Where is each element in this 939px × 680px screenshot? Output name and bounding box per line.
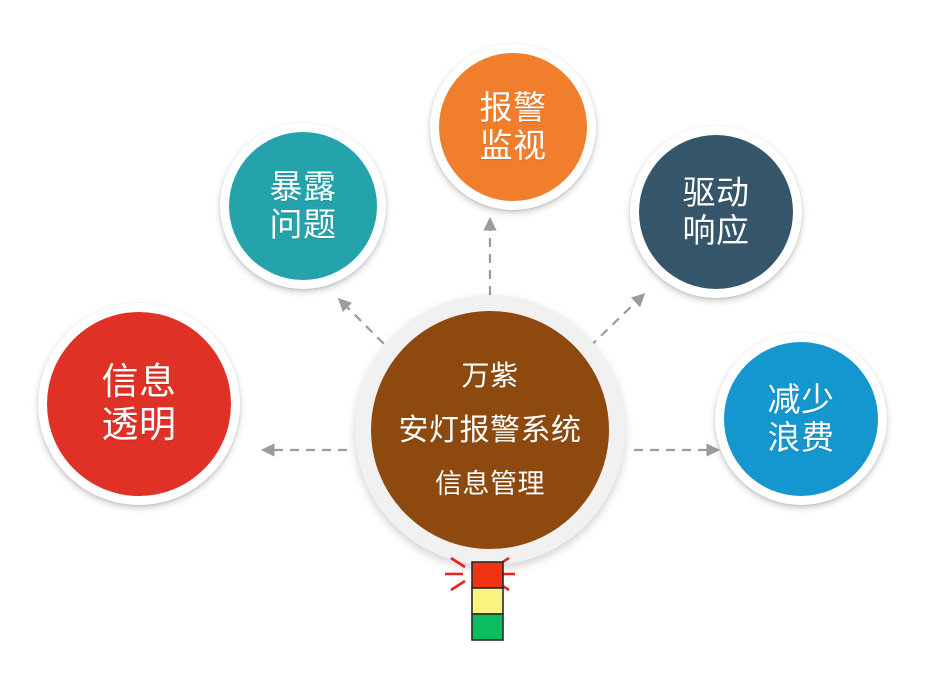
information-transparency-node[interactable]: 信息 透明 bbox=[38, 303, 240, 505]
alarm-monitoring-node-line-1: 报警 bbox=[480, 89, 547, 127]
drive-response-node-disc: 驱动 响应 bbox=[639, 135, 793, 289]
drive-response-node-line-1: 驱动 bbox=[683, 174, 750, 212]
center-node[interactable]: 万紫 安灯报警系统 信息管理 bbox=[355, 295, 625, 565]
information-transparency-node-line-2: 透明 bbox=[102, 404, 177, 447]
alarm-monitoring-node-disc: 报警 监视 bbox=[439, 53, 587, 201]
andon-lamp-stack-icon bbox=[472, 562, 503, 640]
center-node-line-1: 万紫 bbox=[461, 360, 518, 392]
drive-response-node-line-2: 响应 bbox=[683, 212, 750, 250]
center-node-disc: 万紫 安灯报警系统 信息管理 bbox=[371, 311, 609, 549]
exposure-node-line-2: 问题 bbox=[270, 206, 337, 244]
exposure-node-line-1: 暴露 bbox=[270, 168, 337, 206]
information-transparency-node-line-1: 信息 bbox=[102, 361, 177, 404]
andon-lamp-yellow bbox=[472, 588, 503, 614]
diagram-canvas: 万紫 安灯报警系统 信息管理 暴露 问题 报警 监视 驱动 响应 信息 透明 减… bbox=[0, 0, 939, 680]
center-node-line-3: 信息管理 bbox=[435, 469, 545, 500]
exposure-node[interactable]: 暴露 问题 bbox=[220, 123, 386, 289]
andon-lamp-red bbox=[472, 562, 503, 588]
alarm-monitoring-node-line-2: 监视 bbox=[480, 127, 547, 165]
exposure-node-disc: 暴露 问题 bbox=[229, 132, 377, 280]
waste-reduction-node-line-2: 浪费 bbox=[768, 419, 835, 457]
center-node-line-2: 安灯报警系统 bbox=[399, 414, 582, 449]
waste-reduction-node-disc: 减少 浪费 bbox=[724, 342, 878, 496]
drive-response-node[interactable]: 驱动 响应 bbox=[630, 126, 802, 298]
waste-reduction-node-line-1: 减少 bbox=[768, 381, 835, 419]
information-transparency-node-disc: 信息 透明 bbox=[47, 312, 231, 496]
waste-reduction-node[interactable]: 减少 浪费 bbox=[715, 333, 887, 505]
andon-light-tower-icon bbox=[440, 548, 540, 648]
alarm-monitoring-node[interactable]: 报警 监视 bbox=[430, 44, 596, 210]
andon-lamp-green bbox=[472, 614, 503, 640]
